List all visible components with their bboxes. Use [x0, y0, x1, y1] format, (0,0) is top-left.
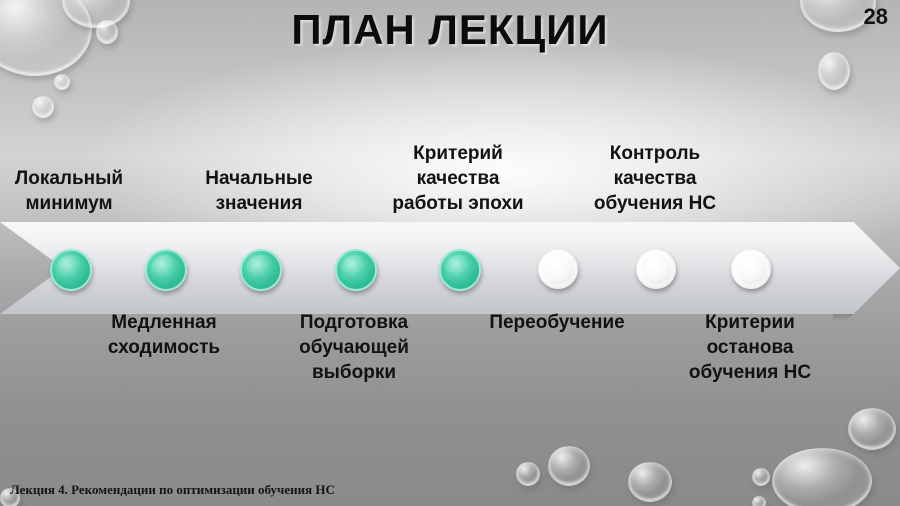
timeline-label-7: Контроль качества обучения НС	[545, 141, 765, 216]
timeline-node-2[interactable]	[145, 249, 187, 291]
timeline-label-2: Медленная сходимость	[54, 310, 274, 360]
timeline-node-4[interactable]	[335, 249, 377, 291]
timeline-node-3[interactable]	[240, 249, 282, 291]
water-droplet	[752, 468, 770, 486]
timeline-label-5: Критерий качества работы эпохи	[348, 141, 568, 216]
page-title: ПЛАН ЛЕКЦИИ	[0, 6, 900, 54]
timeline-label-6: Переобучение	[447, 310, 667, 335]
timeline-node-8[interactable]	[731, 249, 771, 289]
slide-canvas: ПЛАН ЛЕКЦИИ 28 Локальный минимумМедленна…	[0, 0, 900, 506]
water-droplet	[752, 496, 766, 506]
timeline-node-6[interactable]	[538, 249, 578, 289]
water-droplet	[772, 448, 872, 506]
timeline-node-1[interactable]	[50, 249, 92, 291]
slide-number: 28	[864, 4, 888, 30]
timeline-label-8: Критерии останова обучения НС	[640, 310, 860, 385]
footer-note: Лекция 4. Рекомендации по оптимизации об…	[10, 482, 335, 498]
water-droplet	[516, 462, 540, 486]
timeline-label-4: Подготовка обучающей выборки	[244, 310, 464, 385]
water-droplet	[818, 52, 850, 90]
timeline-label-3: Начальные значения	[149, 166, 369, 216]
water-droplet	[32, 96, 54, 118]
timeline-node-7[interactable]	[636, 249, 676, 289]
water-droplet	[848, 408, 896, 450]
water-droplet	[628, 462, 672, 502]
water-droplet	[548, 446, 590, 486]
timeline-node-5[interactable]	[439, 249, 481, 291]
water-droplet	[54, 74, 70, 90]
